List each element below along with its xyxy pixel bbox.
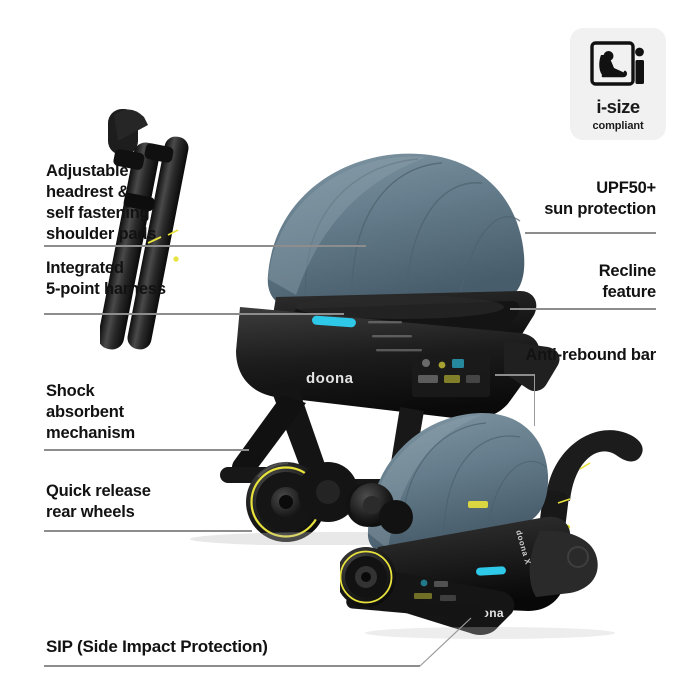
label-adjustable-headrest: Adjustable headrest & self fastening sho…: [46, 161, 256, 245]
label-recline-feature: Recline feature: [426, 261, 656, 303]
label-upf-sun-protection: UPF50+ sun protection: [426, 178, 656, 220]
leader-line-side-impact-protection: [44, 665, 420, 667]
leader-line-recline-feature: [510, 308, 656, 310]
leader-line-anti-rebound-bar-vertical: [534, 374, 535, 426]
leader-line-shock-absorbent: [44, 449, 249, 451]
label-integrated-harness: Integrated 5-point harness: [46, 258, 256, 300]
i-size-compliant-badge: i-size compliant: [570, 28, 666, 140]
brand-logo: doona: [306, 370, 354, 387]
label-quick-release-wheels: Quick release rear wheels: [46, 481, 256, 523]
label-side-impact-protection: SIP (Side Impact Protection): [46, 636, 386, 658]
ground-shadow-2: [365, 627, 615, 639]
infographic-canvas: doona: [0, 0, 700, 700]
label-anti-rebound-bar: Anti-rebound bar: [426, 345, 656, 366]
leader-line-quick-release-wheels: [44, 530, 252, 532]
badge-subtitle: compliant: [592, 120, 643, 132]
leader-line-integrated-harness: [44, 313, 344, 315]
leader-line-sip-diagonal: [418, 612, 478, 670]
leader-line-anti-rebound-bar: [495, 374, 535, 376]
badge-title: i-size: [596, 96, 639, 118]
child-car-seat-icon: [590, 41, 646, 89]
product-image-carseat-mode: doona X doona: [340, 405, 670, 640]
leader-line-upf-sun-protection: [525, 232, 656, 234]
label-shock-absorbent: Shock absorbent mechanism: [46, 381, 256, 444]
belt-guide-accent: [476, 566, 506, 576]
